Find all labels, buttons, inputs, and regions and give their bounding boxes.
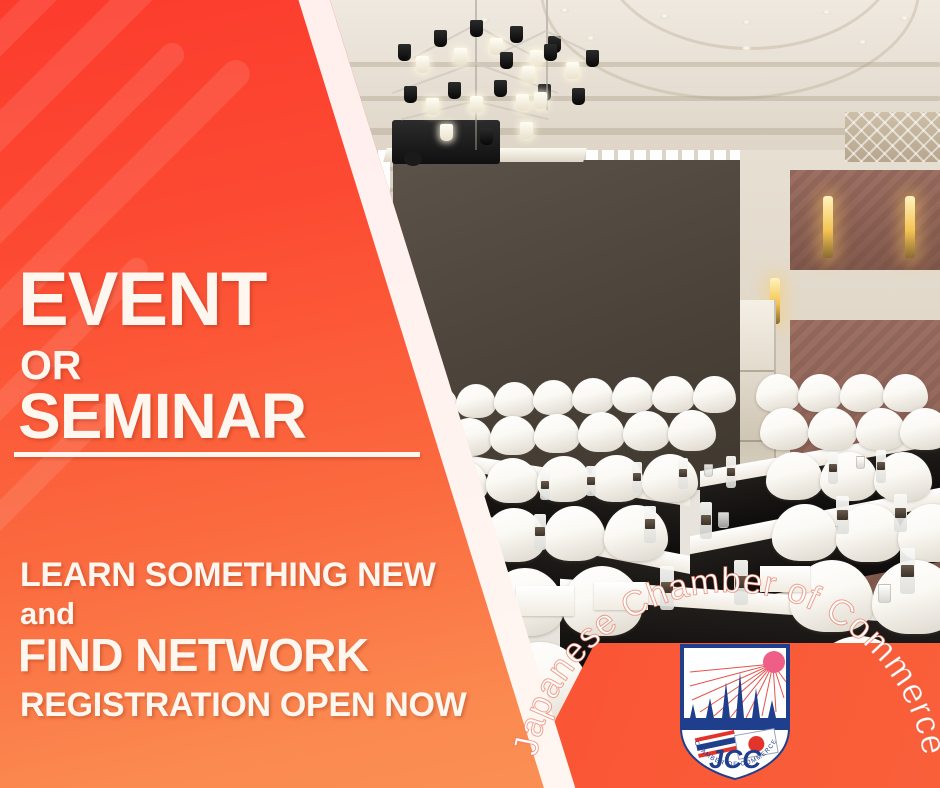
- headline-event: EVENT: [18, 262, 266, 338]
- ceiling-light: [822, 10, 831, 15]
- event-poster: EVENT OR SEMINAR LEARN SOMETHING NEW and…: [0, 0, 940, 788]
- chair: [494, 382, 535, 417]
- ceiling-light: [660, 14, 669, 19]
- chair: [572, 378, 614, 414]
- water-bottle: [586, 466, 596, 496]
- water-bottle: [876, 450, 886, 483]
- water-bottle: [894, 494, 907, 532]
- chandelier: [486, 0, 606, 110]
- water-bottle: [828, 452, 838, 484]
- logo-monogram: JCC: [709, 744, 762, 774]
- ceiling-light: [742, 20, 751, 25]
- water-bottle: [726, 456, 736, 488]
- wall-grille: [845, 112, 940, 162]
- water-bottle: [700, 502, 712, 539]
- wall-sconce: [905, 196, 915, 258]
- drinking-glass: [718, 512, 729, 528]
- jcc-logo: JAPANESE CHAMBER OF COMMERCE BANGKOK JCC: [676, 642, 794, 782]
- water-bottle: [678, 458, 688, 489]
- projector-lens: [404, 152, 422, 166]
- water-bottle: [534, 514, 546, 550]
- drinking-glass: [856, 456, 865, 469]
- subhead-find-network: FIND NETWORK: [18, 632, 369, 678]
- chair: [456, 384, 496, 418]
- wall-sconce: [823, 196, 833, 258]
- chair: [612, 377, 654, 413]
- headline-underline: [14, 452, 420, 457]
- wood-panel: [790, 170, 940, 270]
- headline-seminar: SEMINAR: [18, 384, 306, 448]
- subhead-learn-something-new: LEARN SOMETHING NEW: [20, 558, 436, 592]
- ceiling-light: [900, 16, 909, 21]
- chair: [533, 380, 574, 415]
- subhead-registration-open-now: REGISTRATION OPEN NOW: [20, 688, 466, 722]
- water-bottle: [632, 462, 642, 493]
- subhead-and: and: [20, 598, 75, 629]
- ceiling-light: [742, 46, 751, 51]
- ceiling-light: [858, 40, 867, 45]
- water-bottle: [540, 470, 550, 500]
- water-bottle: [644, 506, 656, 543]
- rising-sun-icon: [763, 651, 785, 673]
- water-bottle: [836, 496, 849, 534]
- drinking-glass: [704, 464, 713, 477]
